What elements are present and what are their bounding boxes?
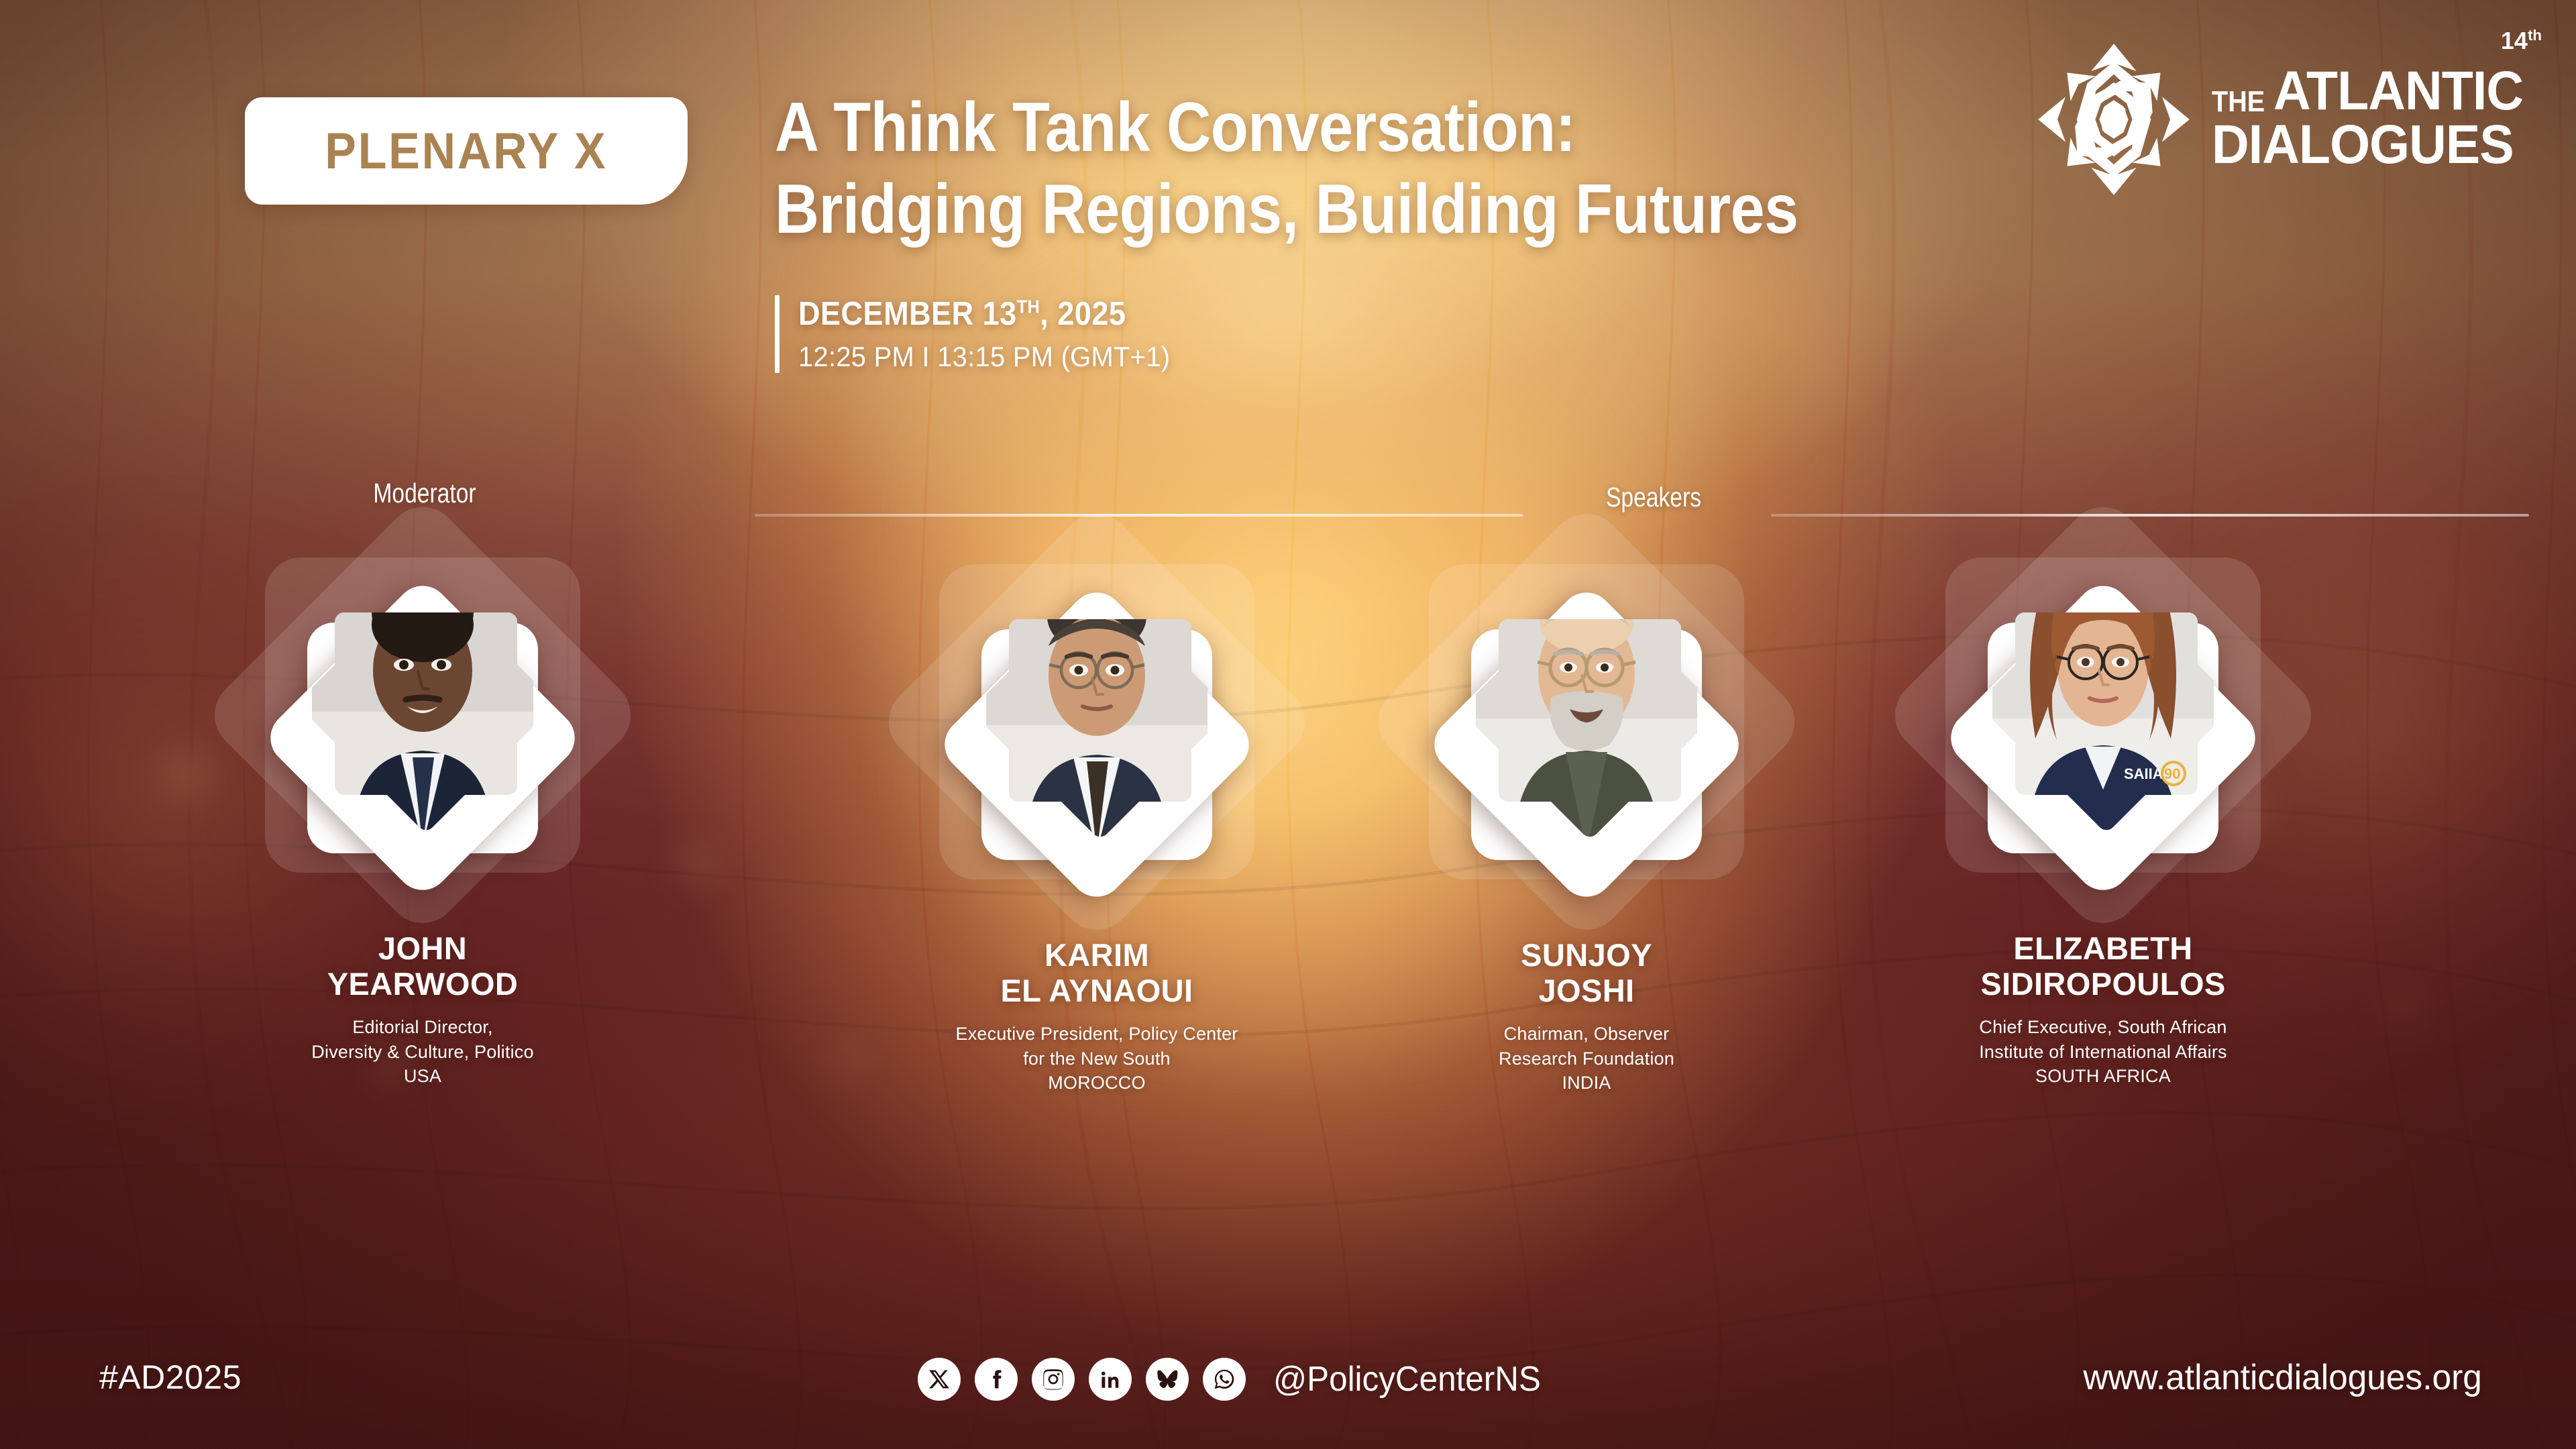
person-card: JOHN YEARWOOD Editorial Director, Divers… (221, 550, 624, 1089)
person-affiliation: Chief Executive, South African Institute… (1902, 1015, 2304, 1088)
date-year: , 2025 (1040, 296, 1126, 332)
logo-atlantic: ATLANTIC (2273, 66, 2523, 116)
person-last-name: YEARWOOD (221, 967, 624, 1002)
session-title: A Think Tank Conversation: Bridging Regi… (775, 87, 1982, 250)
portrait-photo (1479, 637, 1695, 853)
bluesky-icon[interactable] (1146, 1358, 1189, 1401)
person-title-line-1: Chairman, Observer (1385, 1022, 1788, 1046)
svg-text:SAIIA: SAIIA (2124, 765, 2163, 782)
person-name: SUNJOY JOSHI (1385, 938, 1788, 1008)
portrait-photo (989, 637, 1205, 853)
person-affiliation: Executive President, Policy Center for t… (896, 1022, 1298, 1095)
logo-edition-number: 14 (2501, 27, 2528, 54)
rosette-icon (2033, 39, 2194, 200)
person-first-name: ELIZABETH (1902, 931, 2304, 967)
portrait: SAIIA 90 (1902, 550, 2304, 926)
portrait (1385, 557, 1788, 932)
plenary-badge-label: PLENARY X (325, 122, 607, 180)
person-name: ELIZABETH SIDIROPOULOS (1902, 931, 2304, 1002)
person-country: MOROCCO (896, 1071, 1298, 1095)
portrait-photo (315, 630, 531, 846)
poster-footer: #AD2025 @PolicyCenterNS www.atlanticdial… (0, 1301, 2576, 1449)
date-main: DECEMBER 13 (798, 296, 1017, 332)
logo-the: THE (2212, 87, 2265, 117)
person-last-name: SIDIROPOULOS (1902, 967, 2304, 1002)
person-name: JOHN YEARWOOD (221, 931, 624, 1002)
person-title-line-2: for the New South (896, 1046, 1298, 1071)
speakers-divider-right (1771, 514, 2529, 517)
logo-edition: 14th (2501, 27, 2542, 55)
logo-wordmark: 14th THE ATLANTIC DIALOGUES (2212, 66, 2539, 172)
person-card: SUNJOY JOSHI Chairman, Observer Research… (1385, 557, 1788, 1095)
person-title-line-1: Executive President, Policy Center (896, 1022, 1298, 1046)
website-url[interactable]: www.atlanticdialogues.org (2084, 1357, 2482, 1398)
person-card: SAIIA 90 ELIZABETH SIDIROPOULOS Chief Ex… (1902, 550, 2304, 1089)
portrait-photo: SAIIA 90 (1995, 630, 2211, 846)
person-country: SOUTH AFRICA (1902, 1064, 2304, 1088)
svg-text:90: 90 (2164, 765, 2180, 782)
person-affiliation: Editorial Director, Diversity & Culture,… (221, 1015, 624, 1088)
moderator-section-label: Moderator (356, 478, 494, 509)
date-ordinal: TH (1017, 297, 1040, 317)
person-name: KARIM EL AYNAOUI (896, 938, 1298, 1008)
instagram-icon[interactable] (1032, 1358, 1075, 1401)
person-first-name: JOHN (221, 931, 624, 967)
person-last-name: EL AYNAOUI (896, 973, 1298, 1009)
logo-edition-suffix: th (2528, 27, 2542, 44)
person-affiliation: Chairman, Observer Research Foundation I… (1385, 1022, 1788, 1095)
event-hashtag: #AD2025 (99, 1358, 241, 1397)
social-links: @PolicyCenterNS (918, 1358, 1555, 1401)
speakers-divider-left (755, 514, 1523, 517)
person-title-line-2: Institute of International Affairs (1902, 1040, 2304, 1064)
facebook-icon[interactable] (975, 1358, 1018, 1401)
datetime-accent-bar (775, 295, 780, 373)
person-country: INDIA (1385, 1071, 1788, 1095)
portrait (221, 550, 624, 926)
person-first-name: SUNJOY (1385, 938, 1788, 973)
x-icon[interactable] (918, 1358, 961, 1401)
linkedin-icon[interactable] (1089, 1358, 1132, 1401)
person-last-name: JOSHI (1385, 973, 1788, 1009)
logo-dialogues: DIALOGUES (2212, 117, 2520, 173)
session-date: DECEMBER 13TH, 2025 (798, 295, 1159, 333)
person-first-name: KARIM (896, 938, 1298, 973)
portrait (896, 557, 1298, 932)
session-title-line-1: A Think Tank Conversation: (775, 87, 1837, 169)
plenary-badge: PLENARY X (245, 97, 688, 205)
whatsapp-icon[interactable] (1203, 1358, 1246, 1401)
poster-header: PLENARY X A Think Tank Conversation: Bri… (0, 0, 2576, 288)
person-title-line-2: Research Foundation (1385, 1046, 1788, 1071)
atlantic-dialogues-logo: 14th THE ATLANTIC DIALOGUES (2033, 39, 2539, 200)
speakers-section-label: Speakers (1546, 482, 1761, 513)
session-time: 12:25 PM I 13:15 PM (GMT+1) (798, 341, 1170, 373)
person-card: KARIM EL AYNAOUI Executive President, Po… (896, 557, 1298, 1095)
social-handle[interactable]: @PolicyCenterNS (1273, 1359, 1541, 1399)
person-title-line-1: Editorial Director, (221, 1015, 624, 1039)
person-title-line-2: Diversity & Culture, Politico (221, 1040, 624, 1064)
session-datetime: DECEMBER 13TH, 2025 12:25 PM I 13:15 PM … (775, 295, 1190, 373)
session-title-line-2: Bridging Regions, Building Futures (775, 169, 1837, 251)
person-country: USA (221, 1064, 624, 1088)
person-title-line-1: Chief Executive, South African (1902, 1015, 2304, 1039)
